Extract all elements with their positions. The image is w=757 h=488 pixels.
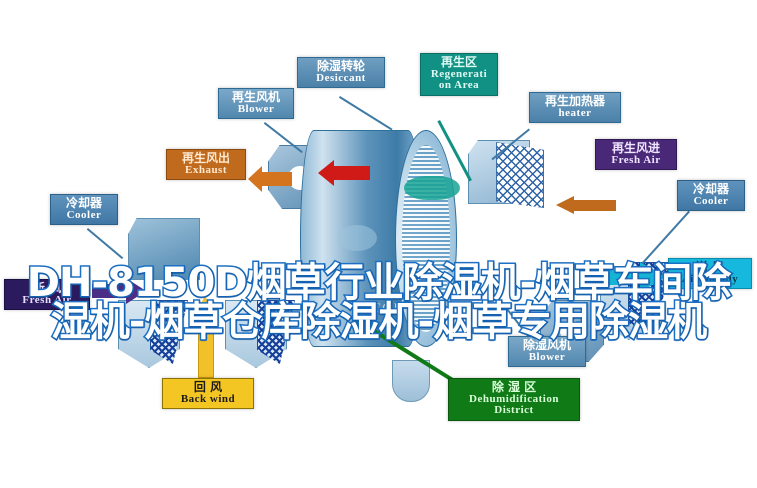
- label-back-wind-en: Back wind: [168, 394, 248, 406]
- label-regeneration-area: 再生区 Regenerati on Area: [420, 53, 498, 96]
- label-desiccant-rotor-cn: 除湿转轮: [303, 60, 379, 73]
- process-inlet-elbow: [128, 218, 200, 280]
- label-air-supply-en: Air Supply: [674, 274, 746, 286]
- label-regeneration-fresh-air-in: 再生风进 Fresh Air: [595, 139, 677, 170]
- label-dehumidification-blower: 除湿风机 Blower: [508, 336, 586, 367]
- label-regeneration-fresh-air-in-en: Fresh Air: [601, 155, 671, 167]
- label-back-wind: 回 风 Back wind: [162, 378, 254, 409]
- label-fresh-air-in-en: Fresh Air: [10, 295, 84, 307]
- label-desiccant-rotor: 除湿转轮 Desiccant: [297, 57, 385, 88]
- label-regeneration-heater-en: heater: [535, 108, 615, 120]
- label-back-wind-cn: 回 风: [168, 381, 248, 394]
- label-regeneration-area-en-2: on Area: [426, 80, 492, 92]
- label-regeneration-exhaust: 再生风出 Exhaust: [166, 149, 246, 180]
- label-air-supply-cn: 送 风: [674, 261, 746, 274]
- rotor-watermark: XTGD: [328, 300, 438, 316]
- regeneration-sector: [404, 176, 460, 200]
- label-cooler-right-en: Cooler: [683, 196, 739, 208]
- label-dehumidification-blower-en: Blower: [514, 352, 580, 364]
- label-cooler-left: 冷却器 Cooler: [50, 194, 118, 225]
- fresh-air-arrow: [92, 278, 148, 304]
- label-cooler-left-en: Cooler: [56, 210, 112, 222]
- leader-dehum-blower: [503, 304, 532, 340]
- condensate-scoop: [392, 360, 430, 402]
- exhaust-arrow: [248, 166, 292, 192]
- regeneration-air-arrow: [318, 160, 370, 186]
- leader-desiccant: [339, 96, 393, 131]
- label-cooler-right: 冷却器 Cooler: [677, 180, 745, 211]
- label-regeneration-exhaust-cn: 再生风出: [172, 152, 240, 165]
- schematic-image: XTGD 除湿转轮: [0, 0, 757, 488]
- label-regeneration-area-cn: 再生区: [426, 56, 492, 69]
- label-fresh-air-in: 新 风 Fresh Air: [4, 279, 90, 310]
- label-regeneration-blower-cn: 再生风机: [224, 91, 288, 104]
- label-dehumidification-district-en-2: District: [454, 405, 574, 417]
- heater-coil-panel: [496, 142, 544, 208]
- label-air-supply: 送 风 Air Supply: [668, 258, 752, 289]
- label-regeneration-blower: 再生风机 Blower: [218, 88, 294, 119]
- label-regeneration-heater-cn: 再生加热器: [535, 95, 615, 108]
- label-regeneration-blower-en: Blower: [224, 104, 288, 116]
- leader-cooler-left: [87, 228, 124, 259]
- label-regeneration-heater: 再生加热器 heater: [529, 92, 621, 123]
- label-dehumidification-district-cn: 除 湿 区: [454, 381, 574, 394]
- label-fresh-air-in-cn: 新 风: [10, 282, 84, 295]
- desiccant-rotor-hub: [337, 225, 377, 251]
- label-regeneration-exhaust-en: Exhaust: [172, 165, 240, 177]
- air-supply-arrow: [596, 262, 668, 292]
- label-desiccant-rotor-en: Desiccant: [303, 73, 379, 85]
- label-dehumidification-blower-cn: 除湿风机: [514, 339, 580, 352]
- label-regeneration-fresh-air-in-cn: 再生风进: [601, 142, 671, 155]
- label-cooler-right-cn: 冷却器: [683, 183, 739, 196]
- label-dehumidification-district: 除 湿 区 Dehumidification District: [448, 378, 580, 421]
- regeneration-inlet-arrow: [556, 196, 616, 214]
- label-cooler-left-cn: 冷却器: [56, 197, 112, 210]
- back-wind-arrow: [192, 296, 218, 376]
- leader-cooler-right: [642, 211, 690, 264]
